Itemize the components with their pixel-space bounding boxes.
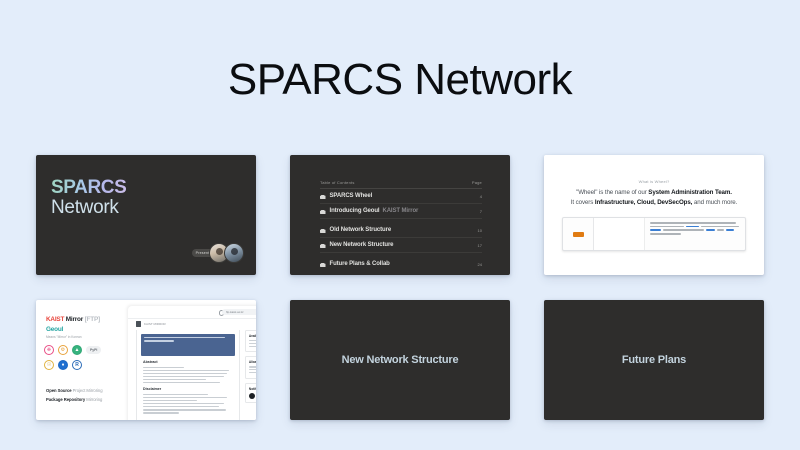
text-line: [249, 372, 256, 373]
text-line: [249, 343, 256, 344]
wheel-badge: [563, 218, 594, 250]
text-line: [143, 409, 226, 410]
toc-row-label: Future Plans & Collab: [320, 261, 390, 267]
book-icon: [320, 243, 326, 249]
toc-header: Table of Contents Page: [320, 180, 482, 189]
docker-logo-icon: ♦: [58, 360, 68, 370]
mirror-bullet-1-bold: Open Source: [46, 388, 72, 393]
text-line: [143, 406, 219, 407]
screenshot-column: [594, 218, 645, 250]
text-line: [143, 382, 220, 383]
toc-label-text: Old Network Structure: [330, 227, 392, 233]
sidebar-card-heading: Notification: [249, 387, 256, 391]
wheel-line2-post: and much more.: [692, 199, 737, 206]
book-icon: [320, 209, 326, 215]
toc-row[interactable]: Future Plans & Collab 24: [320, 257, 482, 271]
text-line: [650, 233, 681, 235]
pypi-pill-logo: PyPI: [86, 346, 101, 354]
ubuntu-logo-icon: ☉: [44, 360, 54, 370]
sidebar-card-heading: Aliases: [249, 360, 256, 364]
abstract-section: Abstract Disclaimer: [137, 360, 239, 414]
sidebar-card-aliases: Aliases: [245, 356, 256, 378]
mirror-bullet-2-bold: Package Repository: [46, 397, 85, 402]
slide-thumbnail-title[interactable]: SPARCS Network Presenters: [36, 155, 256, 275]
gnome-logo-icon: ⚙: [58, 345, 68, 355]
mirror-bullet-1-rest: Project Mirroring: [72, 388, 103, 393]
browser-content: Abstract Disclaimer: [136, 330, 256, 420]
ftp-word: [FTP]: [85, 316, 100, 323]
section-title: Future Plans: [622, 354, 686, 366]
text-line: [144, 337, 225, 338]
notification-row: [249, 393, 256, 399]
kaist-word: KAIST: [46, 316, 64, 323]
r-project-logo-icon: R: [72, 360, 82, 370]
wheel-statement-line-1: "Wheel" is the name of our System Admini…: [544, 189, 764, 196]
toc-row-label: Introducing Geoul KAIST Mirror: [320, 208, 418, 214]
text-line: [249, 369, 256, 370]
wheel-definition-screenshot: [562, 217, 746, 251]
page-title: SPARCS Network: [0, 55, 800, 105]
slide-thumbnail-table-of-contents[interactable]: Table of Contents Page SPARCS Wheel 4 In…: [290, 155, 510, 275]
browser-mockup: ftp.kaist.ac.kr KAIST MIRROR Abstract: [128, 306, 256, 420]
sidebar-card-notification: Notification: [245, 383, 256, 403]
text-line: [143, 367, 184, 368]
text-line: [143, 379, 206, 380]
toc: Table of Contents Page SPARCS Wheel 4 In…: [320, 180, 482, 271]
text-line: [144, 340, 174, 341]
mirror-bullet-2-rest: Mirroring: [85, 397, 102, 402]
text-line: [143, 397, 227, 398]
browser-toolbar: ftp.kaist.ac.kr: [128, 306, 256, 319]
text-line: [717, 229, 724, 231]
text-line: [143, 394, 208, 395]
toc-header-right: Page: [472, 180, 482, 185]
geoul-subtitle: Means "Mirror" in Korean: [46, 335, 82, 339]
geoul-title: Geoul: [46, 326, 63, 333]
link-line: [686, 226, 699, 228]
text-line: [249, 340, 256, 341]
mirror-bullet-1: Open Source Project Mirroring: [46, 388, 103, 393]
toc-label-subtext: KAIST Mirror: [382, 208, 418, 214]
text-line: [663, 229, 704, 231]
text-line: [143, 376, 224, 377]
disclaimer-heading: Disclaimer: [143, 387, 233, 391]
avatar: [224, 243, 244, 263]
wheel-line2-pre: It covers: [571, 199, 595, 206]
section-title-container: Future Plans: [544, 300, 764, 420]
logo-row: ☉ ♦ R: [44, 360, 128, 370]
slide-thumbnail-new-network-structure[interactable]: New Network Structure: [290, 300, 510, 420]
toc-header-left: Table of Contents: [320, 180, 355, 185]
sidebar-card-available-services: Available Services: [245, 330, 256, 352]
toc-page-number: 17: [478, 243, 482, 248]
section-title: New Network Structure: [342, 354, 459, 366]
wheel-line1-bold: System Administration Team.: [648, 189, 732, 196]
toc-row-label: SPARCS Wheel: [320, 193, 372, 199]
toc-row-label: New Network Structure: [320, 242, 393, 248]
url-bar[interactable]: ftp.kaist.ac.kr: [222, 309, 256, 315]
browser-tab[interactable]: KAIST MIRROR: [136, 321, 166, 327]
orange-badge-icon: [573, 232, 584, 237]
book-icon: [320, 194, 326, 200]
text-line: [249, 366, 256, 367]
site-favicon-icon: [136, 321, 141, 327]
toc-row[interactable]: SPARCS Wheel 4: [320, 189, 482, 204]
toc-label-text: Introducing Geoul: [330, 208, 380, 214]
network-wordmark: Network: [51, 197, 119, 219]
mirrored-project-logos: ❉ ⚙ ▲ PyPI ☉ ♦ R: [44, 345, 128, 375]
toc-row[interactable]: Old Network Structure 10: [320, 223, 482, 238]
text-line: [143, 412, 179, 413]
logo-row: ❉ ⚙ ▲ PyPI: [44, 345, 128, 355]
text-line: [249, 346, 256, 347]
presenter-avatars: [209, 243, 244, 263]
sidebar-pane: Available Services Aliases Not: [245, 330, 256, 420]
mirror-word: Mirror: [66, 316, 83, 323]
abstract-heading: Abstract: [143, 360, 233, 364]
text-line: [701, 226, 739, 228]
toc-row[interactable]: Introducing Geoul KAIST Mirror 7: [320, 204, 482, 219]
sidebar-card-heading: Available Services: [249, 334, 256, 338]
slide-grid: SPARCS Network Presenters Table of Conte…: [36, 155, 764, 420]
dahlia-logo-icon: ❉: [44, 345, 54, 355]
text-line: [143, 403, 224, 404]
link-line: [726, 229, 733, 231]
text-line-row: [650, 226, 740, 228]
mirror-bullet-2: Package Repository Mirroring: [46, 397, 102, 402]
toc-page-number: 24: [478, 262, 482, 267]
wheel-line2-bold: Infrastructure, Cloud, DevSecOps,: [595, 199, 692, 206]
text-line: [143, 373, 227, 374]
section-title-container: New Network Structure: [290, 300, 510, 420]
slide-thumbnail-kaist-mirror[interactable]: KAIST Mirror [FTP] Geoul Means "Mirror" …: [36, 300, 256, 420]
text-line-row: [650, 229, 740, 231]
kaist-mirror-title: KAIST Mirror [FTP]: [46, 316, 100, 323]
document-pane: Abstract Disclaimer: [136, 330, 240, 420]
slide-deck-overview: SPARCS Network SPARCS Network Presenters…: [0, 0, 800, 450]
notice-banner: [141, 334, 235, 356]
screenshot-text-block: [645, 218, 745, 250]
eyebrow-text: What is Wheel?: [544, 179, 764, 184]
toc-label-text: Future Plans & Collab: [330, 261, 390, 267]
toc-label-text: SPARCS Wheel: [330, 193, 373, 199]
book-icon: [320, 262, 326, 268]
slide-thumbnail-what-is-wheel[interactable]: What is Wheel? "Wheel" is the name of ou…: [544, 155, 764, 275]
toc-page-number: 4: [480, 194, 482, 199]
toc-page-number: 7: [480, 209, 482, 214]
toc-label-text: New Network Structure: [330, 242, 394, 248]
sparcs-wordmark: SPARCS: [51, 177, 126, 199]
text-line: [143, 400, 197, 401]
toc-row-label: Old Network Structure: [320, 227, 391, 233]
presenters-group: Presenters: [182, 243, 244, 263]
toc-row[interactable]: New Network Structure 17: [320, 238, 482, 253]
book-icon: [320, 228, 326, 234]
notification-avatar-icon: [249, 393, 255, 399]
link-line: [650, 229, 661, 231]
wheel-statement-line-2: It covers Infrastructure, Cloud, DevSecO…: [544, 199, 764, 206]
link-line: [706, 229, 715, 231]
text-line: [650, 222, 736, 224]
text-line: [143, 370, 229, 371]
text-line: [650, 226, 684, 228]
slide-thumbnail-future-plans[interactable]: Future Plans: [544, 300, 764, 420]
wheel-line1-pre: "Wheel" is the name of our: [576, 189, 648, 196]
toc-page-number: 10: [478, 228, 482, 233]
arch-logo-icon: ▲: [72, 345, 82, 355]
browser-tab-label: KAIST MIRROR: [144, 322, 166, 326]
